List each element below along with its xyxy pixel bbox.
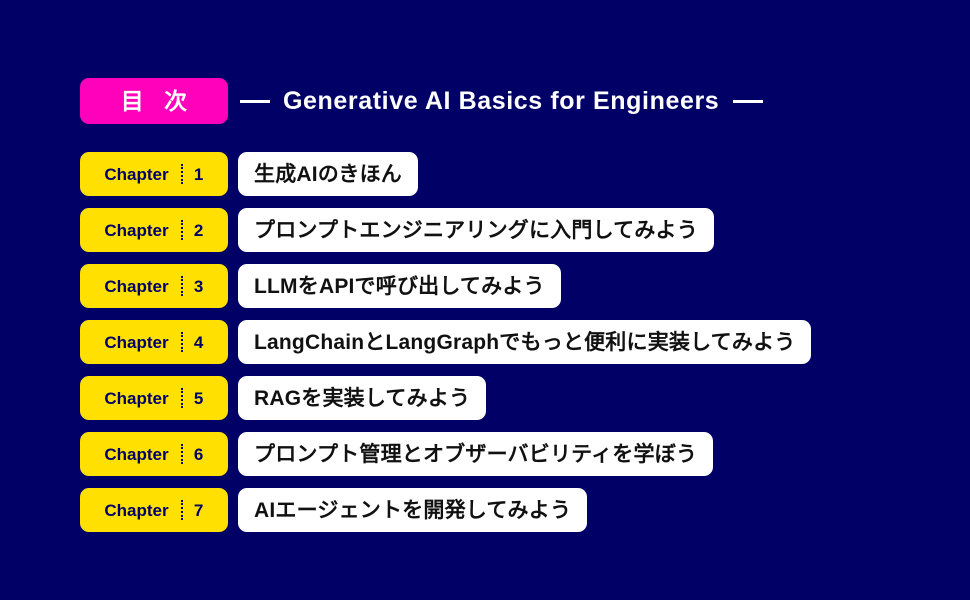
toc-header: 目 次 Generative AI Basics for Engineers: [80, 78, 763, 124]
chapter-word-label: Chapter: [104, 278, 168, 295]
chapter-number-label: 4: [194, 334, 204, 351]
toc-badge: 目 次: [80, 78, 228, 124]
chapter-row[interactable]: Chapter3LLMをAPIで呼び出してみよう: [80, 264, 811, 308]
chapter-word-label: Chapter: [104, 334, 168, 351]
chapter-title-box[interactable]: 生成AIのきほん: [238, 152, 418, 196]
chapter-title-label: AIエージェントを開発してみよう: [254, 500, 571, 521]
chapter-title-label: RAGを実装してみよう: [254, 388, 470, 409]
dotted-separator-icon: [181, 500, 183, 520]
chapter-title-label: 生成AIのきほん: [254, 164, 402, 185]
chapter-title-label: プロンプト管理とオブザーバビリティを学ぼう: [254, 444, 697, 465]
chapter-number-label: 3: [194, 278, 204, 295]
dotted-separator-icon: [181, 220, 183, 240]
dotted-separator-icon: [181, 444, 183, 464]
dotted-separator-icon: [181, 332, 183, 352]
chapter-title-box[interactable]: プロンプトエンジニアリングに入門してみよう: [238, 208, 714, 252]
dotted-separator-icon: [181, 164, 183, 184]
chapter-row[interactable]: Chapter7AIエージェントを開発してみよう: [80, 488, 811, 532]
chapter-number-pill[interactable]: Chapter1: [80, 152, 228, 196]
chapter-title-box[interactable]: RAGを実装してみよう: [238, 376, 486, 420]
dotted-separator-icon: [181, 276, 183, 296]
chapter-row[interactable]: Chapter5RAGを実装してみよう: [80, 376, 811, 420]
chapter-title-label: LLMをAPIで呼び出してみよう: [254, 276, 545, 297]
toc-badge-label: 目 次: [114, 90, 194, 113]
header-rule-left-icon: [240, 100, 270, 103]
chapter-number-label: 2: [194, 222, 204, 239]
chapter-row[interactable]: Chapter6プロンプト管理とオブザーバビリティを学ぼう: [80, 432, 811, 476]
dotted-separator-icon: [181, 388, 183, 408]
chapter-number-pill[interactable]: Chapter4: [80, 320, 228, 364]
chapter-word-label: Chapter: [104, 166, 168, 183]
chapter-title-label: LangChainとLangGraphでもっと便利に実装してみよう: [254, 332, 795, 353]
chapter-number-label: 1: [194, 166, 204, 183]
chapter-number-label: 6: [194, 446, 204, 463]
chapter-word-label: Chapter: [104, 222, 168, 239]
chapter-list: Chapter1生成AIのきほんChapter2プロンプトエンジニアリングに入門…: [80, 152, 811, 532]
chapter-word-label: Chapter: [104, 502, 168, 519]
chapter-word-label: Chapter: [104, 446, 168, 463]
header-rule-right-icon: [733, 100, 763, 103]
chapter-number-pill[interactable]: Chapter7: [80, 488, 228, 532]
chapter-number-pill[interactable]: Chapter5: [80, 376, 228, 420]
chapter-number-pill[interactable]: Chapter3: [80, 264, 228, 308]
page-title: Generative AI Basics for Engineers: [283, 89, 719, 114]
chapter-row[interactable]: Chapter1生成AIのきほん: [80, 152, 811, 196]
chapter-title-box[interactable]: プロンプト管理とオブザーバビリティを学ぼう: [238, 432, 713, 476]
chapter-word-label: Chapter: [104, 390, 168, 407]
chapter-row[interactable]: Chapter4LangChainとLangGraphでもっと便利に実装してみよ…: [80, 320, 811, 364]
chapter-title-box[interactable]: AIエージェントを開発してみよう: [238, 488, 587, 532]
chapter-title-box[interactable]: LLMをAPIで呼び出してみよう: [238, 264, 561, 308]
chapter-title-label: プロンプトエンジニアリングに入門してみよう: [254, 220, 698, 241]
chapter-number-pill[interactable]: Chapter6: [80, 432, 228, 476]
chapter-number-pill[interactable]: Chapter2: [80, 208, 228, 252]
chapter-number-label: 5: [194, 390, 204, 407]
chapter-number-label: 7: [194, 502, 204, 519]
chapter-title-box[interactable]: LangChainとLangGraphでもっと便利に実装してみよう: [238, 320, 811, 364]
chapter-row[interactable]: Chapter2プロンプトエンジニアリングに入門してみよう: [80, 208, 811, 252]
